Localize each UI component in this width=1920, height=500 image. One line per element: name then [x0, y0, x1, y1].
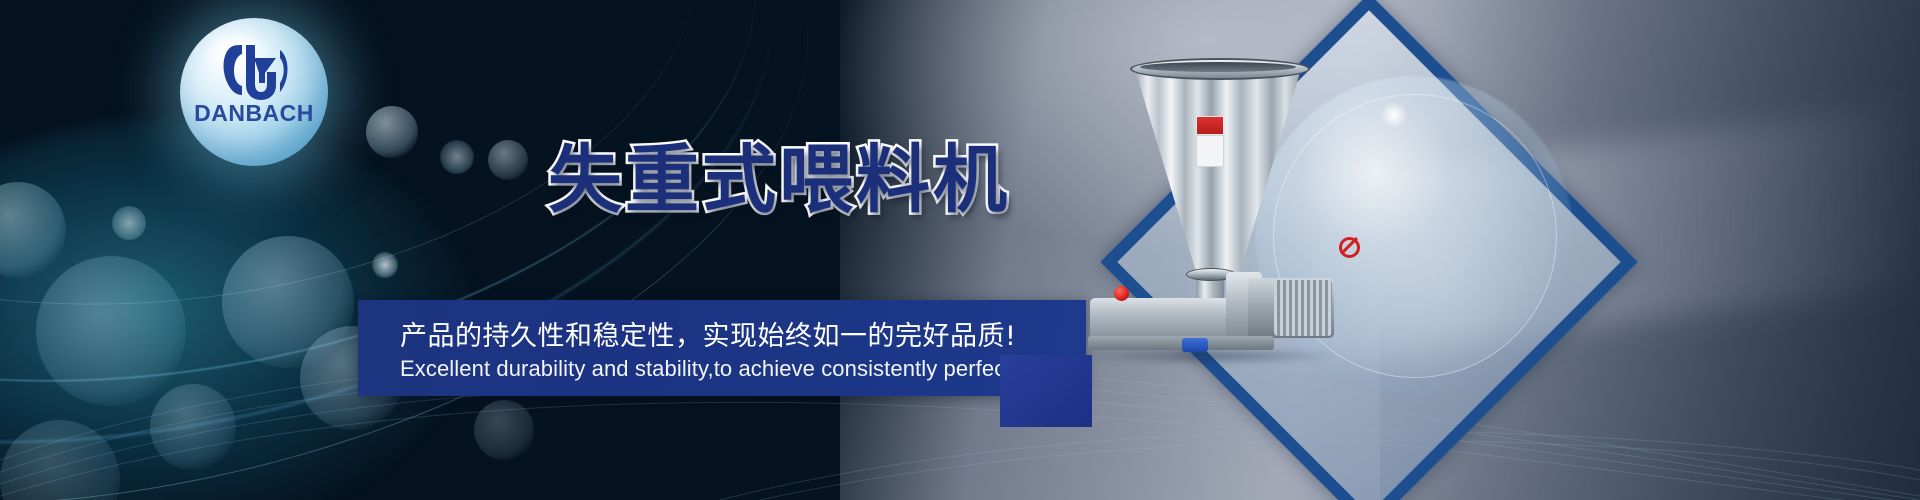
hopper-cone: [1134, 66, 1302, 278]
product-banner: DANBACH 失重式喂料机 产品的持久性和稳定性，实现始终如一的完好品质! E…: [0, 0, 1920, 500]
bokeh-circle: [372, 252, 398, 278]
blue-component-block: [1182, 338, 1208, 352]
no-entry-warning-label-icon: [1196, 135, 1224, 167]
product-shadow: [1086, 348, 1336, 364]
prohibition-symbol-icon: [1339, 237, 1360, 258]
caption-panel: 产品的持久性和稳定性，实现始终如一的完好品质! Excellent durabi…: [358, 300, 1086, 396]
hopper-opening: [1140, 62, 1296, 72]
danbach-monogram-icon: [218, 42, 294, 104]
feeder-foot: [1088, 336, 1274, 350]
brand-wordmark: DANBACH: [182, 100, 326, 127]
sparkle-icon: [1381, 102, 1407, 128]
bokeh-circle: [366, 106, 418, 158]
caption-chinese: 产品的持久性和稳定性，实现始终如一的完好品质!: [400, 314, 1016, 353]
page-title: 失重式喂料机: [548, 120, 1010, 227]
bokeh-circle: [488, 140, 528, 180]
caption-english: Excellent durability and stability,to ac…: [400, 356, 1088, 382]
bokeh-circle: [112, 206, 146, 240]
bokeh-circle: [440, 140, 474, 174]
red-emergency-knob-icon: [1114, 286, 1129, 301]
product-image-loss-in-weight-feeder: [1060, 40, 1380, 370]
motor-cooling-fins: [1274, 280, 1332, 336]
warning-label-red: [1196, 116, 1224, 135]
